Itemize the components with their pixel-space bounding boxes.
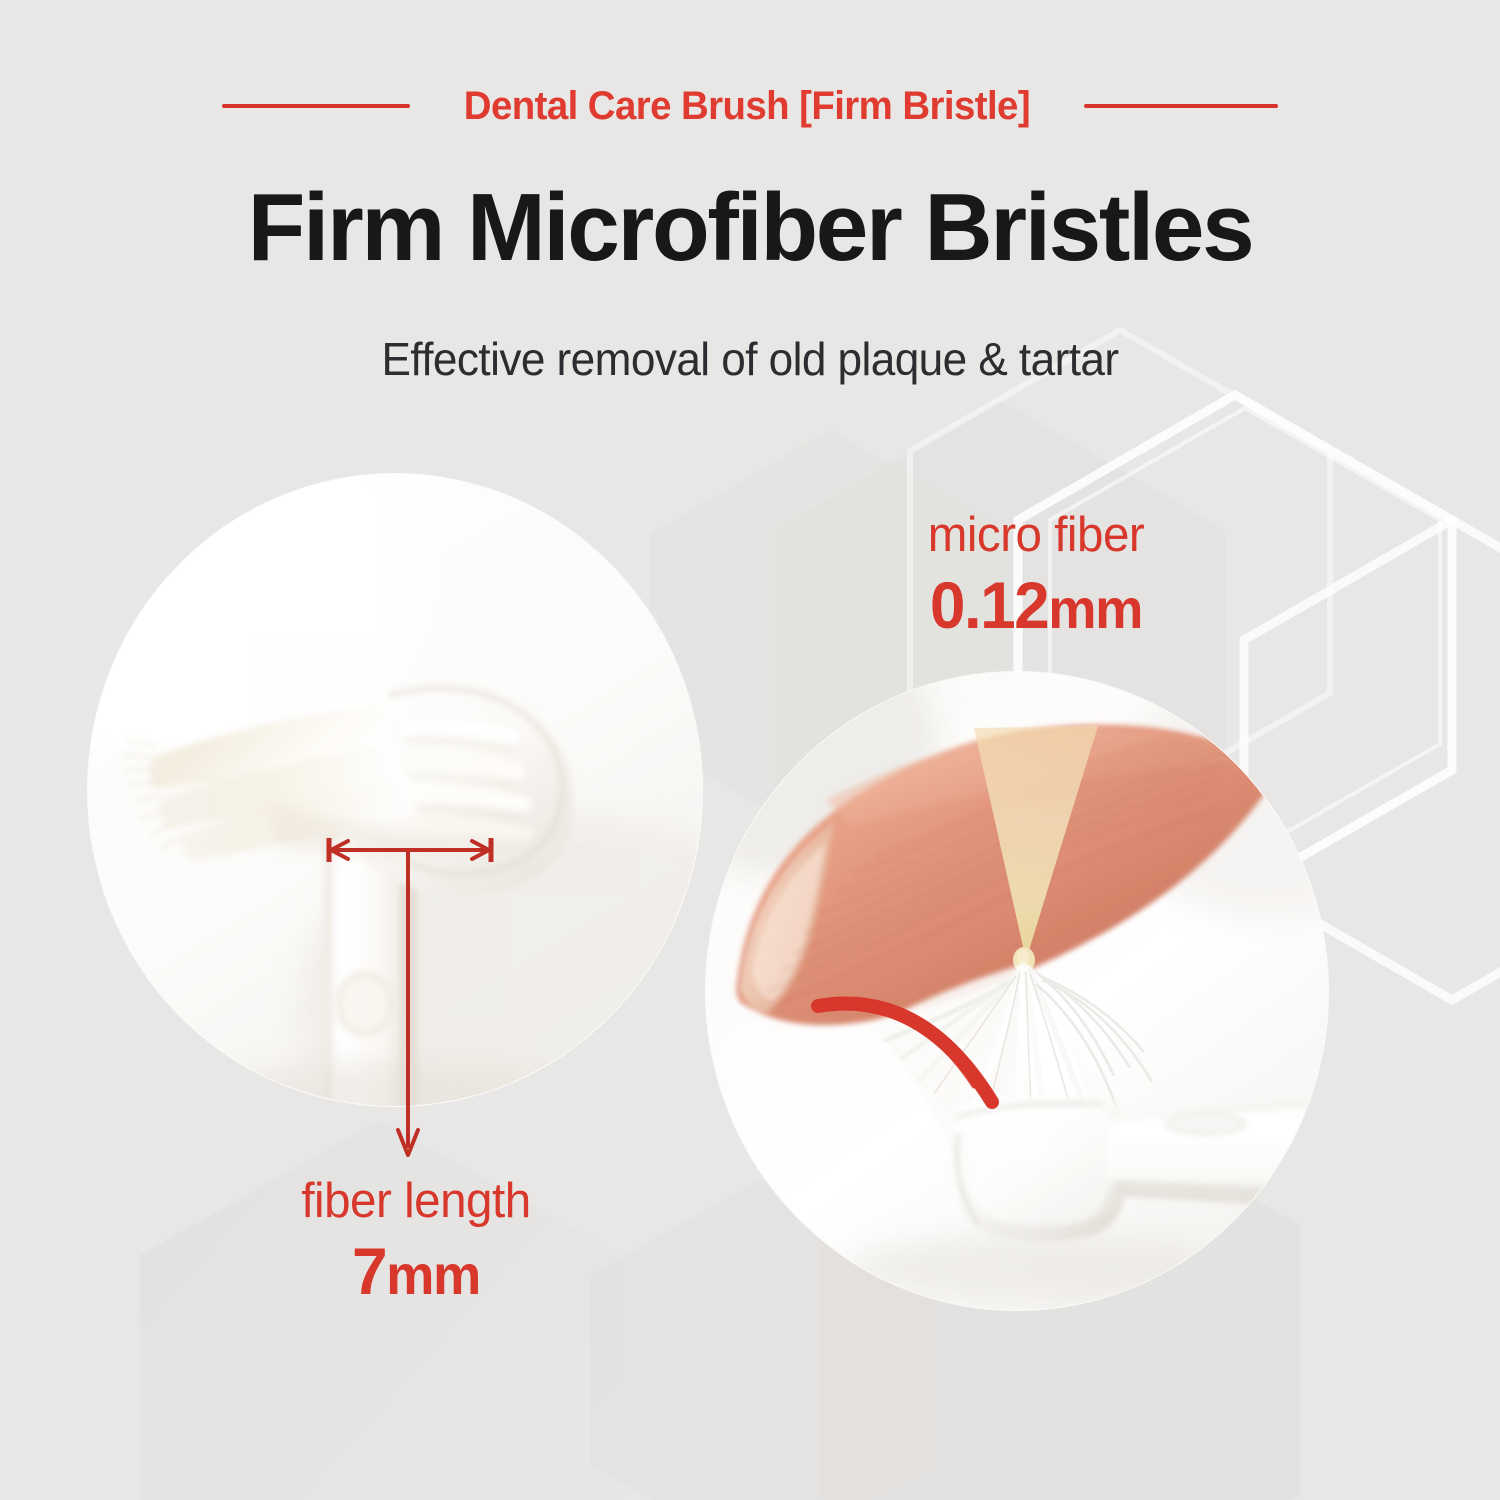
fiber-length-value: 7mm [222, 1235, 610, 1309]
eyebrow-text: Dental Care Brush [Firm Bristle] [464, 84, 1030, 129]
page-subtitle: Effective removal of old plaque & tartar [30, 332, 1470, 386]
fingertip-bristle-illustration [706, 672, 1328, 1310]
fiber-length-caption: fiber length [222, 1174, 610, 1229]
micro-fiber-number: 0.12 [930, 568, 1048, 642]
eyebrow-row: Dental Care Brush [Firm Bristle] [0, 78, 1500, 134]
micro-fiber-unit: mm [1048, 577, 1142, 640]
fiber-length-unit: mm [386, 1243, 480, 1306]
micro-fiber-caption: micro fiber [842, 508, 1230, 563]
brush-head-illustration [88, 474, 702, 1106]
eyebrow-rule-right [1084, 104, 1278, 108]
micro-fiber-callout: micro fiber 0.12mm [836, 508, 1236, 643]
fiber-length-number: 7 [352, 1234, 386, 1308]
micro-fiber-value: 0.12mm [842, 569, 1230, 643]
fingertip-bristle-photo [706, 672, 1328, 1310]
page-title: Firm Microfiber Bristles [11, 178, 1489, 278]
brush-head-photo [88, 474, 702, 1106]
eyebrow-rule-left [222, 104, 410, 108]
fiber-length-callout: fiber length 7mm [216, 1174, 616, 1309]
